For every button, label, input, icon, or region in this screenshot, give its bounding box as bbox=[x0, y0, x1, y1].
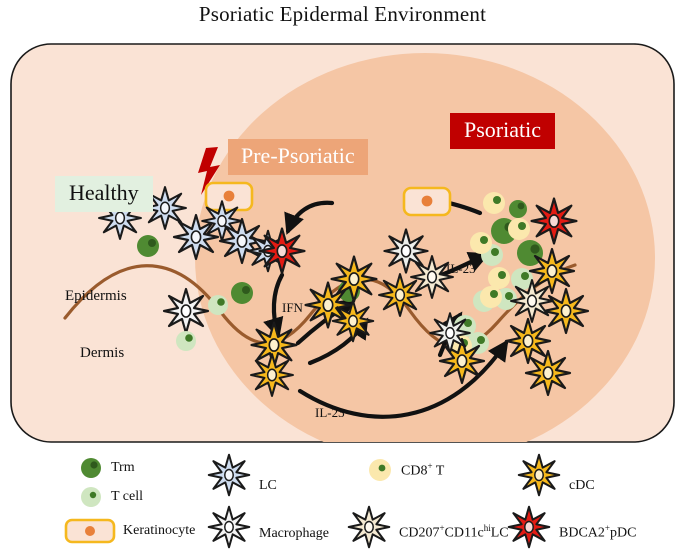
phase-label-healthy: Healthy bbox=[55, 176, 153, 212]
legend-label-lc: LC bbox=[259, 478, 277, 494]
legend-item-cd207-lc: CD207+CD11chiLC bbox=[346, 504, 509, 550]
trm-cell bbox=[231, 282, 253, 304]
macrophage-icon bbox=[206, 504, 252, 550]
legend-label-cd207-lc: CD207+CD11chiLC bbox=[399, 523, 509, 542]
trm-cell bbox=[137, 235, 159, 257]
legend-label-keratinocyte: Keratinocyte bbox=[123, 523, 195, 539]
cytokine-label-il23-upper: IL-23 bbox=[446, 261, 476, 277]
keratinocyte-icon bbox=[64, 516, 116, 546]
cd8-t-cell bbox=[470, 232, 492, 254]
legend-item-macrophage: Macrophage bbox=[206, 504, 329, 550]
cytokine-label-il23-lower: IL-23 bbox=[315, 405, 345, 421]
lc-icon bbox=[206, 452, 252, 498]
diagram-stage: Healthy Pre-Psoriatic Psoriatic Epidermi… bbox=[10, 43, 675, 443]
cd8-t-cell bbox=[488, 267, 510, 289]
cd8-t-icon bbox=[366, 456, 394, 484]
legend-item-trm: Trm bbox=[78, 455, 135, 481]
tissue-label-epidermis: Epidermis bbox=[65, 288, 127, 305]
diagram-svg bbox=[10, 43, 675, 443]
cytokine-label-ifn: IFN bbox=[282, 300, 303, 316]
legend: Trm T cell Keratinocyte LC bbox=[0, 446, 685, 541]
keratinocyte-activated bbox=[404, 188, 450, 215]
bdca2-pdc-icon bbox=[506, 504, 552, 550]
keratinocyte-stressed bbox=[206, 183, 252, 210]
legend-item-cd8-t: CD8+ T bbox=[366, 456, 444, 484]
t-cell bbox=[176, 331, 196, 351]
figure-root: Psoriatic Epidermal Environment bbox=[0, 0, 685, 541]
tissue-label-dermis: Dermis bbox=[80, 345, 124, 362]
phase-label-pre-psoriatic: Pre-Psoriatic bbox=[228, 139, 368, 175]
legend-label-cd8-t: CD8+ T bbox=[401, 461, 444, 480]
t-cell bbox=[208, 295, 228, 315]
trm-icon bbox=[78, 455, 104, 481]
legend-item-lc: LC bbox=[206, 452, 277, 498]
legend-label-bdca2-pdc: BDCA2+pDC bbox=[559, 523, 636, 542]
legend-item-bdca2-pdc: BDCA2+pDC bbox=[506, 504, 636, 550]
cd8-t-cell bbox=[508, 218, 530, 240]
cd8-t-cell bbox=[480, 286, 502, 308]
phase-label-psoriatic: Psoriatic bbox=[450, 113, 555, 149]
legend-label-cdc: cDC bbox=[569, 478, 595, 494]
legend-item-tcell: T cell bbox=[78, 484, 143, 510]
legend-label-macrophage: Macrophage bbox=[259, 526, 329, 542]
t-cell-icon bbox=[78, 484, 104, 510]
legend-label-trm: Trm bbox=[111, 460, 135, 476]
legend-item-cdc: cDC bbox=[516, 452, 595, 498]
figure-title: Psoriatic Epidermal Environment bbox=[0, 2, 685, 27]
cdc-icon bbox=[516, 452, 562, 498]
cd207-cd11c-lc-icon bbox=[346, 504, 392, 550]
trm-cell bbox=[509, 200, 527, 218]
legend-label-tcell: T cell bbox=[111, 489, 143, 505]
legend-item-keratinocyte: Keratinocyte bbox=[64, 516, 195, 546]
cd8-t-cell bbox=[483, 192, 505, 214]
